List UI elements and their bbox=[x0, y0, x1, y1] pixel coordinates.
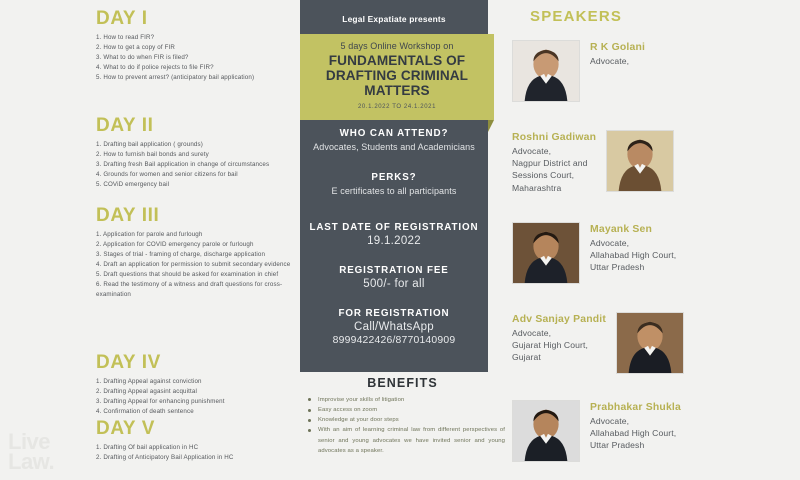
speaker-role-line: Allahabad High Court, bbox=[590, 249, 676, 261]
panel-section-4: REGISTRATION FEE500/- for all bbox=[300, 265, 488, 290]
workshop-title-line-3: MATTERS bbox=[300, 83, 494, 98]
speaker-card-2: Roshni GadiwanAdvocate,Nagpur District a… bbox=[512, 130, 800, 194]
day-topic-item: 2. Drafting Appeal agasint acquittal bbox=[96, 387, 296, 397]
speaker-info: R K GolaniAdvocate, bbox=[590, 40, 645, 67]
speaker-photo bbox=[512, 40, 580, 102]
speaker-role-line: Advocate, bbox=[512, 145, 596, 157]
workshop-title-banner: 5 days Online Workshop on FUNDAMENTALS O… bbox=[300, 34, 494, 120]
day-topic-list-1: 1. How to read FIR?2. How to get a copy … bbox=[96, 33, 296, 83]
speaker-name: R K Golani bbox=[590, 42, 645, 53]
speaker-role-line: Gujarat bbox=[512, 351, 606, 363]
benefits-section: BENEFITS Improvise your skills of litiga… bbox=[300, 376, 505, 456]
day-topic-item: 3. What to do when FIR is filed? bbox=[96, 53, 296, 63]
day-topic-item: 2. Application for COVID emergency parol… bbox=[96, 240, 296, 250]
speaker-card-1: R K GolaniAdvocate, bbox=[512, 40, 800, 102]
panel-section-heading: PERKS? bbox=[300, 172, 488, 183]
organizer-presents-label: Legal Expatiate presents bbox=[300, 14, 488, 24]
speaker-card-5: Prabhakar ShuklaAdvocate,Allahabad High … bbox=[512, 400, 800, 462]
day-topic-item: 2. How to furnish bail bonds and surety bbox=[96, 150, 296, 160]
day-topic-item: 5. COViD emergency bail bbox=[96, 180, 296, 190]
day-topic-item: 2. How to get a copy of FIR bbox=[96, 43, 296, 53]
speaker-role-line: Advocate, bbox=[590, 415, 681, 427]
day-schedule-column: DAY I1. How to read FIR?2. How to get a … bbox=[96, 8, 296, 478]
speaker-role-line: Sessions Court, bbox=[512, 169, 596, 181]
benefit-item: With an aim of learning criminal law fro… bbox=[306, 425, 505, 455]
panel-section-heading: FOR REGISTRATION bbox=[300, 308, 488, 319]
speaker-info: Prabhakar ShuklaAdvocate,Allahabad High … bbox=[590, 400, 681, 452]
speaker-card-4: Adv Sanjay PanditAdvocate,Gujarat High C… bbox=[512, 312, 800, 374]
day-topic-item: 4. What to do if police rejects to file … bbox=[96, 63, 296, 73]
workshop-subtitle: 5 days Online Workshop on bbox=[300, 41, 494, 51]
speaker-info: Mayank SenAdvocate,Allahabad High Court,… bbox=[590, 222, 676, 274]
panel-section-5: FOR REGISTRATIONCall/WhatsApp8999422426/… bbox=[300, 308, 488, 346]
speaker-photo bbox=[606, 130, 674, 192]
day-block-5: DAY V1. Drafting Of bail application in … bbox=[96, 418, 296, 463]
speaker-name: Mayank Sen bbox=[590, 224, 676, 235]
day-title-2: DAY II bbox=[96, 115, 296, 137]
benefit-item: Improvise your skills of litigation bbox=[306, 395, 505, 405]
day-block-2: DAY II1. Drafting bail application ( gro… bbox=[96, 115, 296, 190]
day-topic-list-4: 1. Drafting Appeal against conviction2. … bbox=[96, 377, 296, 417]
day-title-5: DAY V bbox=[96, 418, 296, 440]
panel-section-2: PERKS?E certificates to all participants bbox=[300, 172, 488, 197]
speaker-role-line: Advocate, bbox=[512, 327, 606, 339]
day-topic-item: 1. How to read FIR? bbox=[96, 33, 296, 43]
day-topic-list-2: 1. Drafting bail application ( grounds)2… bbox=[96, 140, 296, 190]
speaker-name: Roshni Gadiwan bbox=[512, 132, 596, 143]
day-topic-item: 1. Drafting bail application ( grounds) bbox=[96, 140, 296, 150]
benefits-list: Improvise your skills of litigationEasy … bbox=[300, 395, 505, 456]
speaker-role-line: Nagpur District and bbox=[512, 157, 596, 169]
benefits-title: BENEFITS bbox=[300, 376, 505, 390]
contact-phone-numbers[interactable]: 8999422426/8770140909 bbox=[300, 335, 488, 346]
speaker-info: Roshni GadiwanAdvocate,Nagpur District a… bbox=[512, 130, 596, 194]
panel-section-heading: LAST DATE OF REGISTRATION bbox=[300, 222, 488, 233]
day-topic-item: 6. Read the testimony of a witness and d… bbox=[96, 280, 296, 300]
panel-section-value: Call/WhatsApp bbox=[300, 321, 488, 333]
day-topic-item: 1. Drafting Of bail application in HC bbox=[96, 443, 296, 453]
speaker-role-line: Advocate, bbox=[590, 55, 645, 67]
day-topic-item: 4. Grounds for women and senior citizens… bbox=[96, 170, 296, 180]
speaker-photo bbox=[512, 222, 580, 284]
day-topic-item: 5. Draft questions that should be asked … bbox=[96, 270, 296, 280]
day-topic-item: 2. Drafting of Anticipatory Bail Applica… bbox=[96, 453, 296, 463]
panel-section-subtext: Advocates, Students and Academicians bbox=[300, 141, 488, 153]
panel-section-subtext: E certificates to all participants bbox=[300, 185, 488, 197]
day-topic-item: 3. Drafting fresh Bail application in ch… bbox=[96, 160, 296, 170]
speaker-info: Adv Sanjay PanditAdvocate,Gujarat High C… bbox=[512, 312, 606, 364]
speaker-name: Adv Sanjay Pandit bbox=[512, 314, 606, 325]
day-title-4: DAY IV bbox=[96, 352, 296, 374]
day-block-4: DAY IV1. Drafting Appeal against convict… bbox=[96, 352, 296, 417]
panel-section-3: LAST DATE OF REGISTRATION19.1.2022 bbox=[300, 222, 488, 247]
speaker-role-line: Uttar Pradesh bbox=[590, 261, 676, 273]
panel-section-heading: REGISTRATION FEE bbox=[300, 265, 488, 276]
day-title-3: DAY III bbox=[96, 205, 296, 227]
day-topic-item: 4. Draft an application for permission t… bbox=[96, 260, 296, 270]
panel-section-value: 19.1.2022 bbox=[300, 235, 488, 247]
speakers-column: SPEAKERS R K GolaniAdvocate,Roshni Gadiw… bbox=[512, 0, 800, 480]
day-topic-item: 1. Drafting Appeal against conviction bbox=[96, 377, 296, 387]
day-topic-item: 5. How to prevent arrest? (anticipatory … bbox=[96, 73, 296, 83]
panel-section-1: WHO CAN ATTEND?Advocates, Students and A… bbox=[300, 128, 488, 153]
watermark-line-2: Law. bbox=[8, 452, 54, 472]
day-topic-list-5: 1. Drafting Of bail application in HC2. … bbox=[96, 443, 296, 463]
speaker-role-line: Gujarat High Court, bbox=[512, 339, 606, 351]
day-topic-item: 4. Confirmation of death sentence bbox=[96, 407, 296, 417]
speaker-photo bbox=[616, 312, 684, 374]
day-block-1: DAY I1. How to read FIR?2. How to get a … bbox=[96, 8, 296, 83]
speaker-role-line: Maharashtra bbox=[512, 182, 596, 194]
workshop-details-panel: Legal Expatiate presents 5 days Online W… bbox=[300, 0, 488, 372]
speaker-card-3: Mayank SenAdvocate,Allahabad High Court,… bbox=[512, 222, 800, 284]
ribbon-fold-shape bbox=[488, 120, 494, 132]
day-topic-item: 1. Application for parole and furlough bbox=[96, 230, 296, 240]
livelaw-watermark: Live Law. bbox=[8, 432, 54, 472]
speakers-heading: SPEAKERS bbox=[530, 8, 622, 25]
speaker-role-line: Advocate, bbox=[590, 237, 676, 249]
speaker-name: Prabhakar Shukla bbox=[590, 402, 681, 413]
day-topic-list-3: 1. Application for parole and furlough2.… bbox=[96, 230, 296, 300]
day-block-3: DAY III1. Application for parole and fur… bbox=[96, 205, 296, 300]
panel-section-heading: WHO CAN ATTEND? bbox=[300, 128, 488, 139]
speaker-role-line: Uttar Pradesh bbox=[590, 439, 681, 451]
workshop-title-line-2: DRAFTING CRIMINAL bbox=[300, 68, 494, 83]
panel-section-value: 500/- for all bbox=[300, 278, 488, 290]
speaker-role-line: Allahabad High Court, bbox=[590, 427, 681, 439]
workshop-title-line-1: FUNDAMENTALS OF bbox=[300, 53, 494, 68]
benefit-item: Knowledge at your door steps bbox=[306, 415, 505, 425]
benefit-item: Easy access on zoom bbox=[306, 405, 505, 415]
speaker-photo bbox=[512, 400, 580, 462]
day-topic-item: 3. Drafting Appeal for enhancing punishm… bbox=[96, 397, 296, 407]
day-title-1: DAY I bbox=[96, 8, 296, 30]
workshop-dates: 20.1.2022 TO 24.1.2021 bbox=[300, 104, 494, 110]
day-topic-item: 3. Stages of trial - framing of charge, … bbox=[96, 250, 296, 260]
poster-canvas: Live Law. DAY I1. How to read FIR?2. How… bbox=[0, 0, 800, 480]
